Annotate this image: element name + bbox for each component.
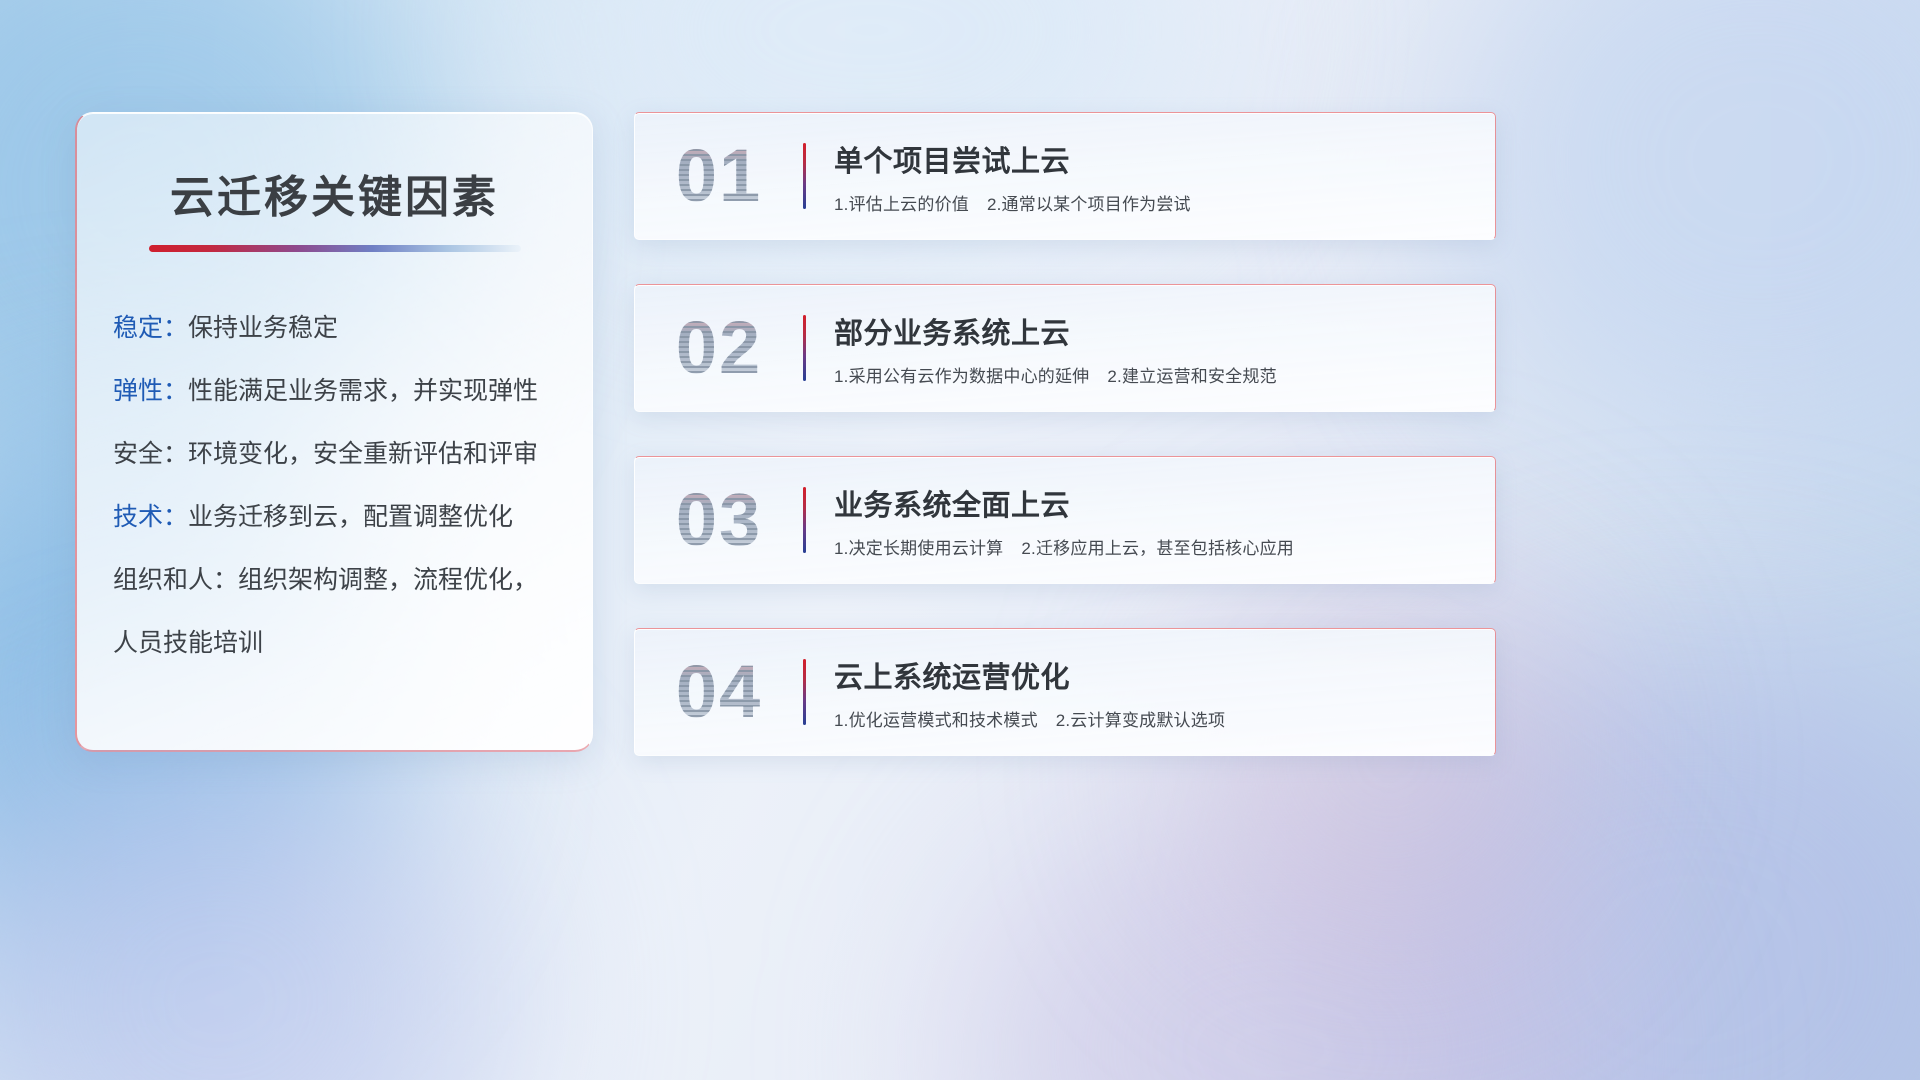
- factor-row: 稳定：保持业务稳定: [113, 316, 592, 341]
- stage-subtitle-item-2: 2.云计算变成默认选项: [1056, 711, 1225, 730]
- stage-text-block: 部分业务系统上云1.采用公有云作为数据中心的延伸2.建立运营和安全规范: [834, 310, 1495, 387]
- stage-text-block: 业务系统全面上云1.决定长期使用云计算2.迁移应用上云，甚至包括核心应用: [834, 482, 1495, 559]
- factor-row: 组织和人：组织架构调整，流程优化，: [113, 568, 592, 593]
- factor-label: 弹性：: [113, 377, 188, 405]
- factor-value: 业务迁移到云，配置调整优化: [188, 503, 513, 531]
- stage-number: 03: [676, 483, 762, 557]
- factor-value: 环境变化，安全重新评估和评审: [188, 440, 538, 468]
- stage-subtitle: 1.评估上云的价值2.通常以某个项目作为尝试: [834, 190, 1471, 215]
- factor-value: 保持业务稳定: [188, 314, 338, 342]
- stage-number: 04: [676, 655, 762, 729]
- factor-value: 组织架构调整，流程优化，: [238, 566, 538, 594]
- stage-text-block: 单个项目尝试上云1.评估上云的价值2.通常以某个项目作为尝试: [834, 138, 1495, 215]
- stage-number-badge: 01: [635, 113, 803, 239]
- factor-row: 安全：环境变化，安全重新评估和评审: [113, 442, 592, 467]
- title-underline-accent: [149, 245, 521, 252]
- stage-card[interactable]: 01单个项目尝试上云1.评估上云的价值2.通常以某个项目作为尝试: [634, 112, 1496, 240]
- factor-value: 人员技能培训: [113, 629, 263, 657]
- factor-row: 技术：业务迁移到云，配置调整优化: [113, 505, 592, 530]
- stage-card[interactable]: 02部分业务系统上云1.采用公有云作为数据中心的延伸2.建立运营和安全规范: [634, 284, 1496, 412]
- stage-number-badge: 03: [635, 457, 803, 583]
- stage-subtitle: 1.决定长期使用云计算2.迁移应用上云，甚至包括核心应用: [834, 534, 1471, 559]
- stage-heading: 业务系统全面上云: [834, 482, 1471, 524]
- stage-heading: 云上系统运营优化: [834, 654, 1471, 696]
- stage-subtitle-item-1: 1.优化运营模式和技术模式: [834, 711, 1038, 730]
- stage-heading: 部分业务系统上云: [834, 310, 1471, 352]
- stage-heading: 单个项目尝试上云: [834, 138, 1471, 180]
- factor-label: 安全：: [113, 440, 188, 468]
- factor-value: 性能满足业务需求，并实现弹性: [188, 377, 538, 405]
- stage-number: 01: [676, 139, 762, 213]
- stage-number-badge: 04: [635, 629, 803, 755]
- stage-card-list: 01单个项目尝试上云1.评估上云的价值2.通常以某个项目作为尝试02部分业务系统…: [634, 112, 1496, 756]
- key-factors-panel: 云迁移关键因素 稳定：保持业务稳定弹性：性能满足业务需求，并实现弹性安全：环境变…: [75, 112, 593, 752]
- stage-number-badge: 02: [635, 285, 803, 411]
- stage-subtitle-item-1: 1.采用公有云作为数据中心的延伸: [834, 367, 1089, 386]
- accent-divider-bar: [803, 659, 806, 725]
- factor-row: 弹性：性能满足业务需求，并实现弹性: [113, 379, 592, 404]
- accent-divider-bar: [803, 487, 806, 553]
- stage-subtitle: 1.采用公有云作为数据中心的延伸2.建立运营和安全规范: [834, 362, 1471, 387]
- stage-subtitle-item-2: 2.通常以某个项目作为尝试: [987, 195, 1191, 214]
- factor-label: 技术：: [113, 503, 188, 531]
- factor-list: 稳定：保持业务稳定弹性：性能满足业务需求，并实现弹性安全：环境变化，安全重新评估…: [113, 316, 592, 656]
- stage-subtitle-item-2: 2.迁移应用上云，甚至包括核心应用: [1021, 539, 1294, 558]
- stage-card[interactable]: 03业务系统全面上云1.决定长期使用云计算2.迁移应用上云，甚至包括核心应用: [634, 456, 1496, 584]
- stage-subtitle: 1.优化运营模式和技术模式2.云计算变成默认选项: [834, 706, 1471, 731]
- factor-label: 组织和人：: [113, 566, 238, 594]
- stage-subtitle-item-1: 1.评估上云的价值: [834, 195, 969, 214]
- stage-subtitle-item-2: 2.建立运营和安全规范: [1107, 367, 1276, 386]
- factor-label: 稳定：: [113, 314, 188, 342]
- stage-number: 02: [676, 311, 762, 385]
- stage-subtitle-item-1: 1.决定长期使用云计算: [834, 539, 1003, 558]
- page-title: 云迁移关键因素: [77, 161, 592, 225]
- accent-divider-bar: [803, 143, 806, 209]
- stage-card[interactable]: 04云上系统运营优化1.优化运营模式和技术模式2.云计算变成默认选项: [634, 628, 1496, 756]
- factor-row: 人员技能培训: [113, 631, 592, 656]
- accent-divider-bar: [803, 315, 806, 381]
- stage-text-block: 云上系统运营优化1.优化运营模式和技术模式2.云计算变成默认选项: [834, 654, 1495, 731]
